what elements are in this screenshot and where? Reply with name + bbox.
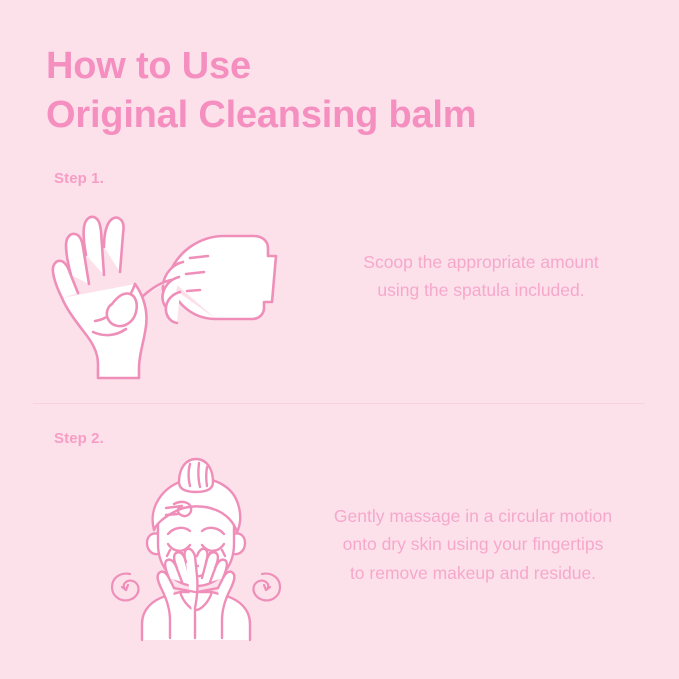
step-1-section: Step 1. <box>0 170 679 385</box>
hands-scooping-balm-icon <box>40 192 300 382</box>
step-2-description: Gently massage in a circular motion onto… <box>293 502 653 587</box>
how-to-use-infographic: How to Use Original Cleansing balm Step … <box>0 0 679 679</box>
step-1-description-line-2: using the spatula included. <box>377 280 584 300</box>
page-title-line-2: Original Cleansing balm <box>46 91 646 140</box>
section-divider <box>33 403 645 404</box>
step-1-description: Scoop the appropriate amount using the s… <box>310 248 652 305</box>
step-2-description-line-2: onto dry skin using your fingertips <box>343 534 604 554</box>
page-title-line-1: How to Use <box>46 42 646 91</box>
woman-massaging-face-icon <box>96 442 296 642</box>
step-2-illustration <box>96 442 296 647</box>
step-1-description-line-1: Scoop the appropriate amount <box>363 252 598 272</box>
step-1-illustration <box>40 192 300 387</box>
step-2-description-line-1: Gently massage in a circular motion <box>334 506 612 526</box>
page-title: How to Use Original Cleansing balm <box>46 42 646 141</box>
step-2-section: Step 2. <box>0 430 679 670</box>
step-1-label: Step 1. <box>54 170 104 187</box>
step-2-description-line-3: to remove makeup and residue. <box>350 563 596 583</box>
